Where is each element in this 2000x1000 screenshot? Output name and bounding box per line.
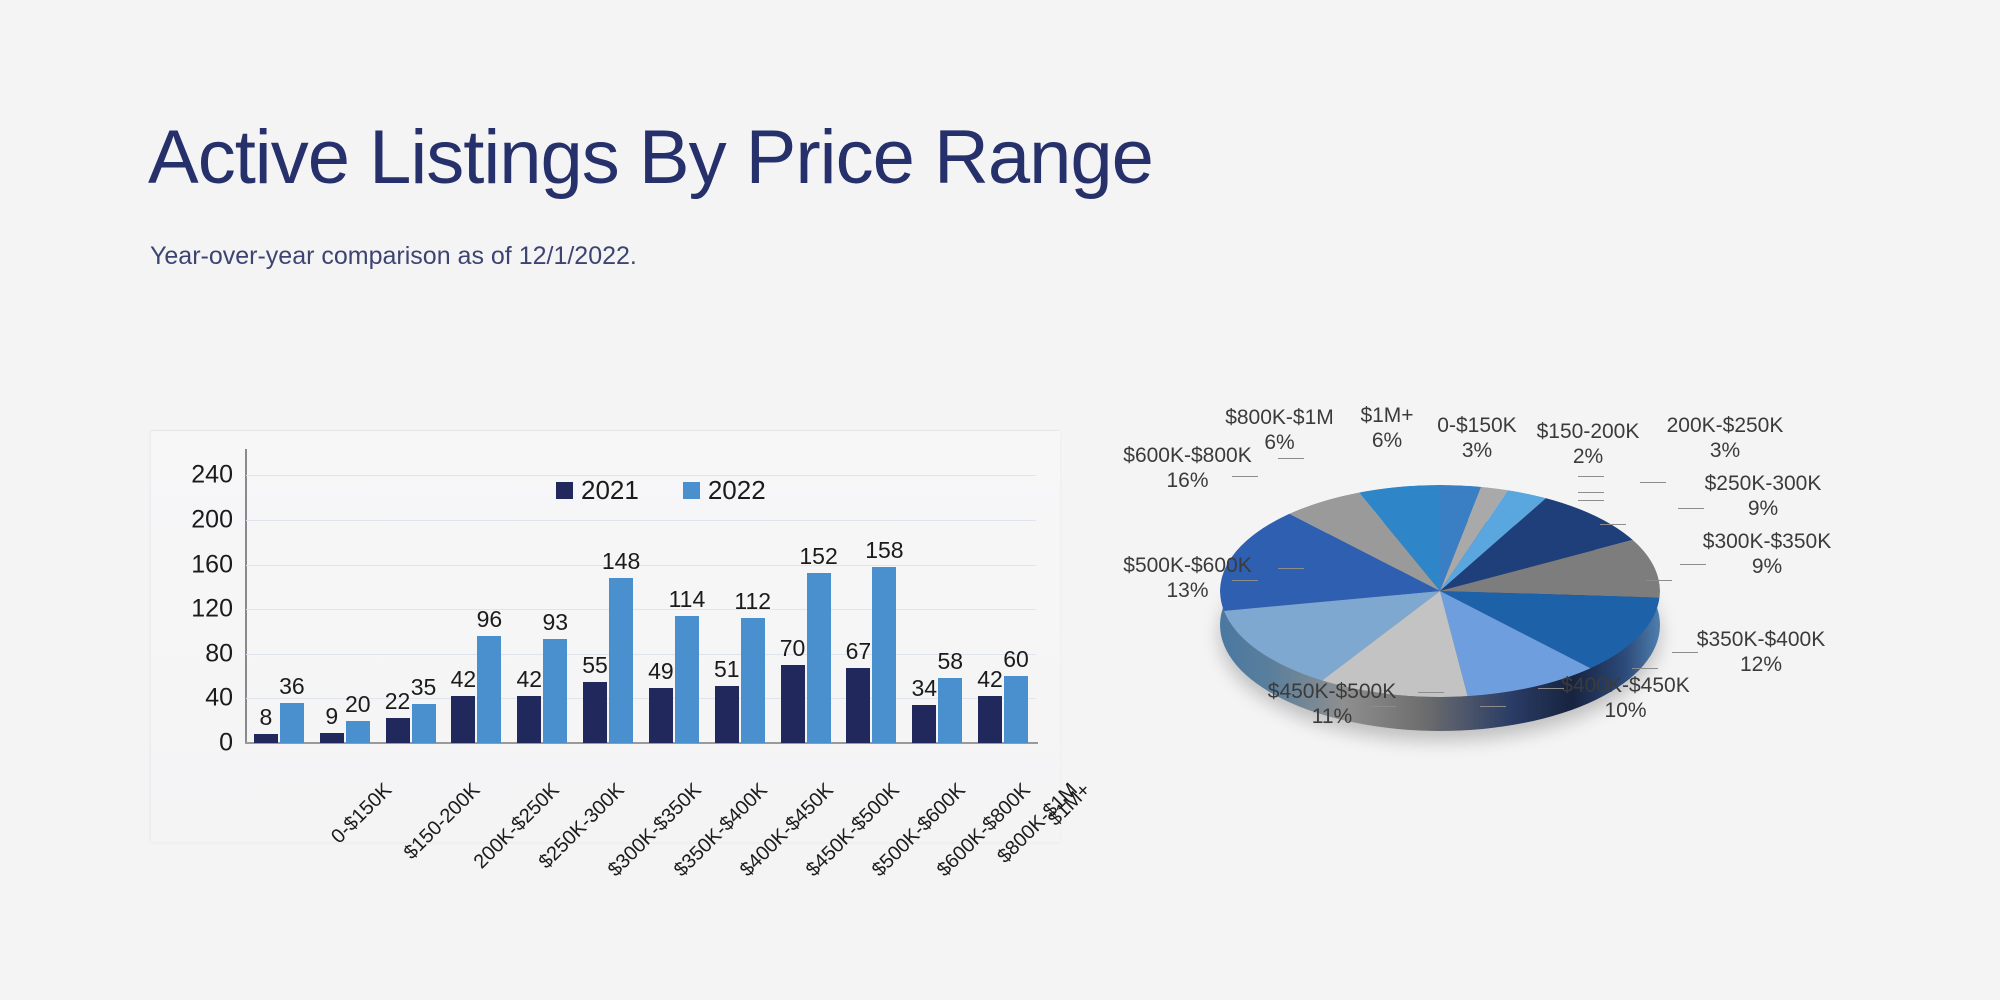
legend-swatch-icon	[683, 482, 700, 499]
legend-item-2022[interactable]: 2022	[683, 475, 766, 506]
pie-callout-value: 9%	[1678, 497, 1848, 522]
x-axis-tick-label: $150-200K	[399, 779, 484, 864]
bar-value-label: 158	[865, 537, 903, 564]
pie-leader-line	[1418, 692, 1444, 693]
pie-callout-value: 9%	[1682, 555, 1852, 580]
bar-group[interactable]: 2235	[378, 453, 444, 743]
pie-callout-label: $350K-$400K	[1676, 628, 1846, 653]
bar-group[interactable]: 4296	[444, 453, 510, 743]
bar-2022[interactable]: 93	[543, 639, 567, 743]
pie-leader-line	[1538, 688, 1564, 689]
pie-callout-label: $300K-$350K	[1682, 530, 1852, 555]
pie-leader-line	[1232, 476, 1258, 477]
bar-value-label: 112	[734, 588, 771, 615]
bar-group[interactable]: 67158	[839, 453, 905, 743]
bar-value-label: 34	[911, 675, 937, 702]
bar-chart-panel: 24020016012080400 8369202235429642935514…	[150, 430, 1060, 842]
bar-value-label: 51	[714, 656, 740, 683]
bar-2022[interactable]: 36	[280, 703, 304, 743]
bar-value-label: 152	[799, 543, 837, 570]
pie-callout-value: 3%	[1640, 439, 1810, 464]
legend-label: 2022	[708, 475, 766, 506]
bar-value-label: 36	[279, 673, 305, 700]
pie-leader-line	[1370, 706, 1396, 707]
bar-value-label: 35	[411, 674, 437, 701]
pie-callout: $350K-$400K12%	[1676, 628, 1846, 678]
pie-callout: $400K-$450K10%	[1538, 674, 1713, 724]
pie-leader-line	[1632, 668, 1658, 669]
legend-label: 2021	[581, 475, 639, 506]
pie-callout: $450K-$500K11%	[1242, 680, 1422, 730]
y-axis-tick-label: 80	[163, 639, 233, 668]
legend-item-2021[interactable]: 2021	[556, 475, 639, 506]
pie-slices	[1220, 485, 1660, 697]
pie-callout: $500K-$600K13%	[1100, 554, 1275, 604]
pie-leader-line	[1578, 492, 1604, 493]
y-axis-tick-label: 120	[163, 595, 233, 624]
pie-callout-value: 10%	[1538, 699, 1713, 724]
pie-callout-value: 13%	[1100, 579, 1275, 604]
bar-value-label: 42	[451, 666, 477, 693]
bar-2022[interactable]: 152	[807, 573, 831, 743]
pie-callout-label: 200K-$250K	[1640, 414, 1810, 439]
bar-2021[interactable]: 9	[320, 733, 344, 743]
bar-value-label: 67	[846, 638, 872, 665]
bar-2022[interactable]: 148	[609, 578, 633, 743]
bar-2022[interactable]: 112	[741, 618, 765, 743]
x-axis-tick-label: 0-$150K	[327, 779, 397, 849]
page-subtitle: Year-over-year comparison as of 12/1/202…	[150, 242, 637, 271]
bar-2021[interactable]: 67	[846, 668, 870, 743]
bar-2021[interactable]: 51	[715, 686, 739, 743]
bar-value-label: 22	[385, 688, 411, 715]
pie-leader-line	[1278, 458, 1304, 459]
y-axis-tick-label: 200	[163, 505, 233, 534]
bar-2021[interactable]: 42	[978, 696, 1002, 743]
pie-leader-line	[1640, 482, 1666, 483]
bar-value-label: 58	[937, 648, 963, 675]
bar-2022[interactable]: 158	[872, 567, 896, 743]
bar-chart-legend: 20212022	[556, 475, 766, 506]
y-axis-tick-label: 40	[163, 684, 233, 713]
pie-callout-label: $450K-$500K	[1242, 680, 1422, 705]
pie-leader-line	[1678, 508, 1704, 509]
pie-callout-label: $250K-300K	[1678, 472, 1848, 497]
bar-value-label: 70	[780, 635, 806, 662]
pie-chart-surface	[1220, 485, 1660, 697]
bar-2021[interactable]: 34	[912, 705, 936, 743]
bar-group[interactable]: 836	[246, 453, 312, 743]
pie-leader-line	[1680, 564, 1706, 565]
bar-2021[interactable]: 42	[517, 696, 541, 743]
pie-callout-value: 11%	[1242, 705, 1422, 730]
bar-2021[interactable]: 55	[583, 682, 607, 743]
pie-callout-label: $500K-$600K	[1100, 554, 1275, 579]
bar-2021[interactable]: 70	[781, 665, 805, 743]
pie-callout-value: 6%	[1332, 429, 1442, 454]
bar-value-label: 93	[542, 609, 568, 636]
bar-group[interactable]: 70152	[773, 453, 839, 743]
bar-value-label: 20	[345, 691, 371, 718]
pie-leader-line	[1232, 580, 1258, 581]
bar-value-label: 55	[582, 652, 608, 679]
bar-group[interactable]: 920	[312, 453, 378, 743]
pie-callout: $1M+6%	[1332, 404, 1442, 454]
pie-leader-line	[1646, 580, 1672, 581]
pie-callout-label: $400K-$450K	[1538, 674, 1713, 699]
y-axis-tick-label: 240	[163, 461, 233, 490]
bar-value-label: 96	[477, 606, 503, 633]
bar-2022[interactable]: 114	[675, 616, 699, 743]
slide-canvas: Active Listings By Price Range Year-over…	[0, 0, 2000, 1000]
bar-2021[interactable]: 22	[386, 718, 410, 743]
y-axis-tick-label: 160	[163, 550, 233, 579]
bar-value-label: 49	[648, 658, 674, 685]
page-title: Active Listings By Price Range	[148, 120, 1153, 196]
legend-swatch-icon	[556, 482, 573, 499]
bar-value-label: 114	[669, 586, 706, 613]
bar-2022[interactable]: 35	[412, 704, 436, 743]
bar-2021[interactable]: 42	[451, 696, 475, 743]
bar-2022[interactable]: 60	[1004, 676, 1028, 743]
bar-value-label: 9	[325, 703, 338, 730]
bar-2021[interactable]: 8	[254, 734, 278, 743]
pie-callout-value: 16%	[1100, 469, 1275, 494]
bar-chart-y-axis: 24020016012080400	[161, 453, 233, 743]
pie-callout-label: $1M+	[1332, 404, 1442, 429]
bar-value-label: 8	[260, 704, 273, 731]
bar-value-label: 60	[1003, 646, 1029, 673]
pie-chart-area: 0-$150K3%$150-200K2%200K-$250K3%$250K-30…	[1080, 430, 1980, 850]
bar-value-label: 42	[977, 666, 1003, 693]
bar-value-label: 42	[516, 666, 542, 693]
pie-leader-line	[1578, 476, 1604, 477]
pie-leader-line	[1278, 568, 1304, 569]
bar-group[interactable]: 4260	[970, 453, 1036, 743]
pie-leader-line	[1672, 652, 1698, 653]
y-axis-tick-label: 0	[163, 729, 233, 758]
bar-value-label: 148	[602, 548, 640, 575]
pie-callout: $300K-$350K9%	[1682, 530, 1852, 580]
pie-leader-line	[1578, 500, 1604, 501]
pie-callout: $250K-300K9%	[1678, 472, 1848, 522]
pie-leader-line	[1480, 706, 1506, 707]
bar-2022[interactable]: 20	[346, 721, 370, 743]
bar-2021[interactable]: 49	[649, 688, 673, 743]
bar-chart-x-axis-labels: 0-$150K$150-200K200K-$250K$250K-300K$300…	[246, 779, 1036, 899]
pie-callout: 200K-$250K3%	[1640, 414, 1810, 464]
bar-group[interactable]: 3458	[904, 453, 970, 743]
pie-leader-line	[1600, 524, 1626, 525]
bar-2022[interactable]: 58	[938, 678, 962, 743]
bar-2022[interactable]: 96	[477, 636, 501, 743]
